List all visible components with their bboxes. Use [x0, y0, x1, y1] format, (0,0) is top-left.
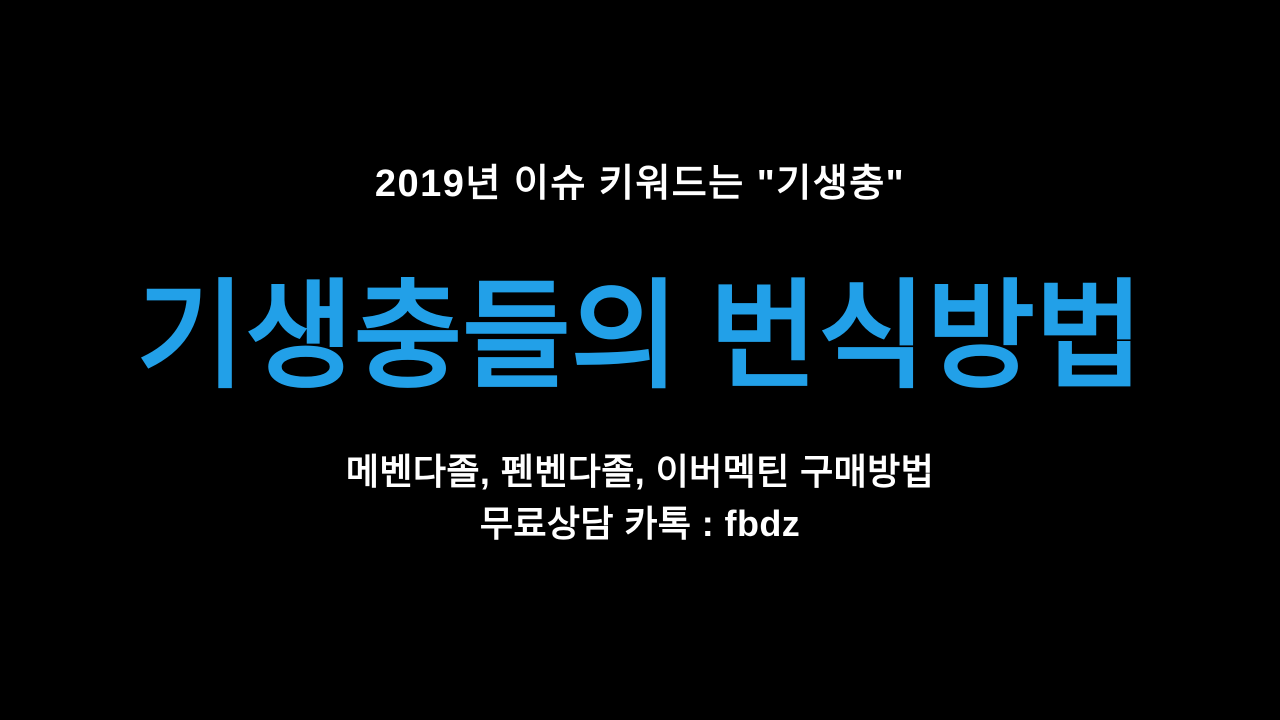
page-title: 기생충들의번식방법: [0, 272, 1280, 402]
kicker-line: 2019년 이슈 키워드는 "기생충": [0, 161, 1280, 207]
subtitle-line-products: 메벤다졸, 펜벤다졸, 이버멕틴 구매방법: [0, 446, 1280, 498]
headline-part-two: 번식방법: [709, 271, 1143, 403]
title-text-stack: 2019년 이슈 키워드는 "기생충" 기생충들의번식방법 메벤다졸, 펜벤다졸…: [0, 0, 1280, 720]
video-title-card: 2019년 이슈 키워드는 "기생충" 기생충들의번식방법 메벤다졸, 펜벤다졸…: [0, 0, 1280, 720]
headline-part-one: 기생충들의: [136, 271, 679, 403]
subtitle-line-contact: 무료상담 카톡 : fbdz: [0, 498, 1280, 550]
subtitle-block: 메벤다졸, 펜벤다졸, 이버멕틴 구매방법 무료상담 카톡 : fbdz: [0, 446, 1280, 550]
